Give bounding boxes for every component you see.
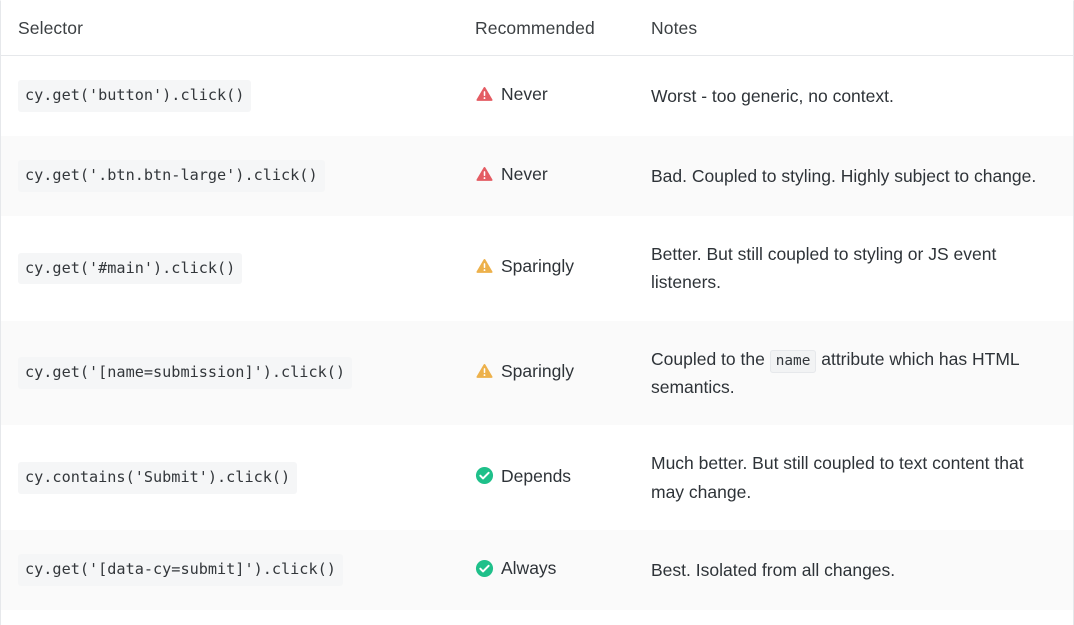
column-header-recommended: Recommended [473, 1, 651, 56]
warning-triangle-icon [475, 85, 494, 104]
notes-cell: Bad. Coupled to styling. Highly subject … [651, 136, 1073, 216]
notes-text-before: Much better. But still coupled to text c… [651, 453, 1024, 501]
column-header-selector: Selector [1, 1, 473, 56]
recommendation-cell: Never [473, 56, 651, 137]
recommendation-badge: Never [475, 80, 548, 108]
recommendation-badge: Sparingly [475, 357, 574, 385]
notes-text: Best. Isolated from all changes. [651, 556, 1051, 584]
notes-cell: Coupled to the name attribute which has … [651, 321, 1073, 426]
recommendation-cell: Sparingly [473, 321, 651, 426]
selector-code-chip: cy.get('[name=submission]').click() [18, 357, 352, 389]
selector-cell: cy.get('#main').click() [1, 216, 473, 321]
recommendation-badge: Sparingly [475, 252, 574, 280]
recommendation-cell: Depends [473, 425, 651, 530]
table-row: cy.contains('Submit').click()DependsMuch… [1, 425, 1073, 530]
notes-cell: Much better. But still coupled to text c… [651, 425, 1073, 530]
table-row: cy.get('.btn.btn-large').click()NeverBad… [1, 136, 1073, 216]
check-circle-icon [475, 559, 494, 578]
notes-text-before: Bad. Coupled to styling. Highly subject … [651, 166, 1036, 186]
column-header-notes: Notes [651, 1, 1073, 56]
selector-cell: cy.get('[data-cy=submit]').click() [1, 530, 473, 610]
selector-code-chip: cy.get('[data-cy=submit]').click() [18, 554, 343, 586]
notes-cell: Better. But still coupled to styling or … [651, 216, 1073, 321]
notes-cell: Worst - too generic, no context. [651, 56, 1073, 137]
notes-text: Worst - too generic, no context. [651, 82, 1051, 110]
selector-code-chip: cy.contains('Submit').click() [18, 462, 297, 494]
recommendation-badge: Depends [475, 462, 571, 490]
recommendation-badge: Always [475, 554, 556, 582]
notes-text-before: Worst - too generic, no context. [651, 86, 894, 106]
notes-text: Much better. But still coupled to text c… [651, 449, 1051, 506]
warning-triangle-icon [475, 362, 494, 381]
table-row: cy.get('button').click()NeverWorst - too… [1, 56, 1073, 137]
recommendation-label: Always [501, 554, 556, 582]
selector-code-chip: cy.get('.btn.btn-large').click() [18, 160, 325, 192]
notes-cell: Best. Isolated from all changes. [651, 530, 1073, 610]
recommendation-label: Never [501, 80, 548, 108]
selector-cell: cy.get('button').click() [1, 56, 473, 137]
table-body: cy.get('button').click()NeverWorst - too… [1, 56, 1073, 611]
selector-code-chip: cy.get('#main').click() [18, 253, 242, 285]
selector-cell: cy.get('[name=submission]').click() [1, 321, 473, 426]
recommendation-badge: Never [475, 160, 548, 188]
notes-inline-code: name [770, 350, 817, 373]
table-row: cy.get('[data-cy=submit]').click()Always… [1, 530, 1073, 610]
selector-cell: cy.contains('Submit').click() [1, 425, 473, 530]
recommendation-label: Never [501, 160, 548, 188]
recommendation-label: Depends [501, 462, 571, 490]
check-circle-icon [475, 466, 494, 485]
notes-text: Bad. Coupled to styling. Highly subject … [651, 162, 1051, 190]
table-header-row: Selector Recommended Notes [1, 1, 1073, 56]
recommendation-label: Sparingly [501, 252, 574, 280]
table-header: Selector Recommended Notes [1, 1, 1073, 56]
notes-text: Coupled to the name attribute which has … [651, 345, 1051, 402]
notes-text-before: Better. But still coupled to styling or … [651, 244, 996, 292]
table-row: cy.get('[name=submission]').click()Spari… [1, 321, 1073, 426]
selector-code-chip: cy.get('button').click() [18, 80, 251, 112]
recommendation-cell: Always [473, 530, 651, 610]
table-row: cy.get('#main').click()SparinglyBetter. … [1, 216, 1073, 321]
notes-text: Better. But still coupled to styling or … [651, 240, 1051, 297]
notes-text-before: Best. Isolated from all changes. [651, 560, 895, 580]
recommendation-cell: Sparingly [473, 216, 651, 321]
warning-triangle-icon [475, 257, 494, 276]
selector-best-practices-table-container: Selector Recommended Notes cy.get('butto… [0, 0, 1074, 625]
selector-cell: cy.get('.btn.btn-large').click() [1, 136, 473, 216]
recommendation-cell: Never [473, 136, 651, 216]
recommendation-label: Sparingly [501, 357, 574, 385]
selector-best-practices-table: Selector Recommended Notes cy.get('butto… [1, 1, 1073, 610]
notes-text-before: Coupled to the [651, 349, 770, 369]
warning-triangle-icon [475, 165, 494, 184]
